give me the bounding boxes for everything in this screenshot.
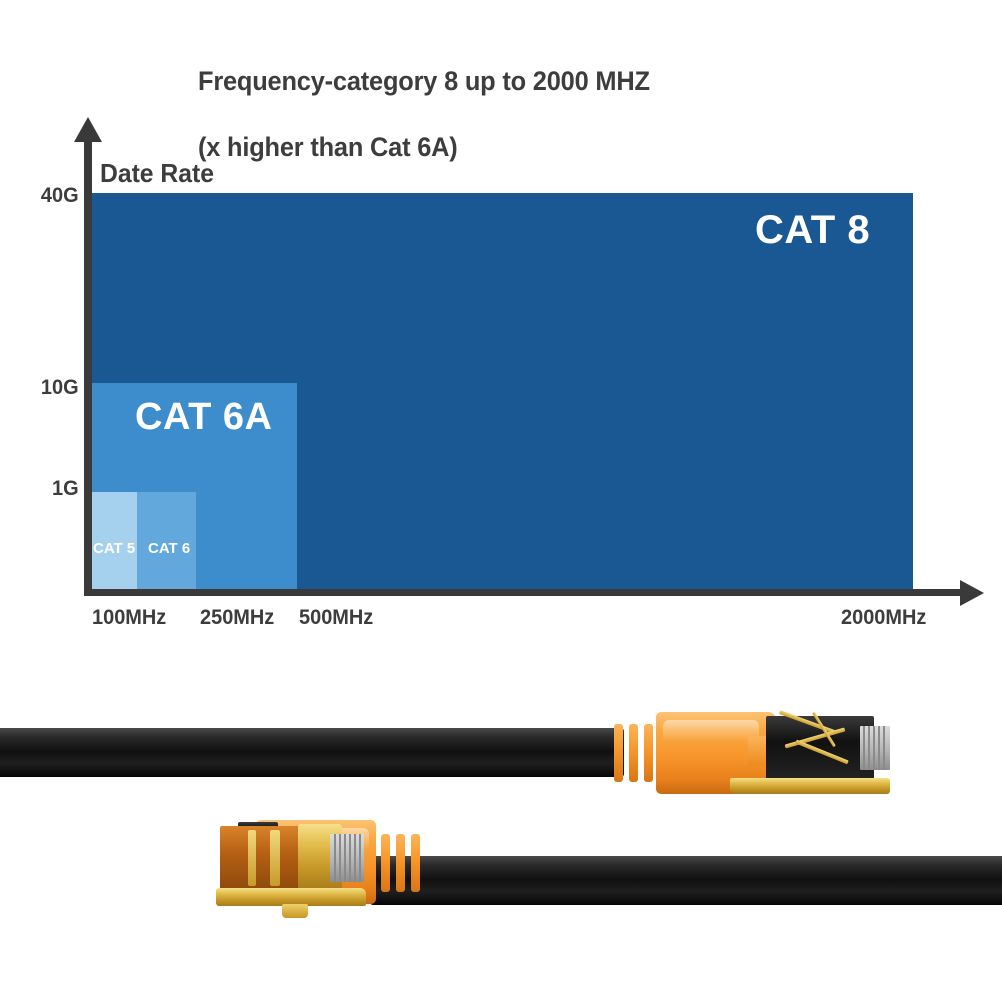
- rj45-connector-lower: Smolink: [128, 812, 428, 912]
- x-axis-line: [84, 589, 964, 596]
- bar-label-cat-5: CAT 5: [93, 540, 135, 557]
- x-tick-label-100mhz: 100MHz: [92, 606, 166, 630]
- y-tick-label-10g: 10G: [25, 376, 78, 400]
- cable-jacket-upper: [0, 728, 624, 777]
- y-axis-line: [84, 138, 92, 596]
- y-axis-title: Date Rate: [100, 158, 214, 189]
- y-tick-label-40g: 40G: [25, 184, 78, 208]
- cable-jacket-lower: [370, 856, 1002, 905]
- bar-label-cat-6a: CAT 6A: [135, 396, 272, 439]
- latch-tab-lower: [282, 904, 308, 918]
- y-axis-arrow-icon: [74, 117, 102, 142]
- frequency-data-rate-chart: CAT 8 CAT 6A CAT 6 CAT 5 Date Rate 40G 1…: [0, 0, 1002, 660]
- y-tick-label-1g: 1G: [25, 477, 78, 501]
- rj45-connector-upper: [608, 706, 898, 801]
- x-tick-label-2000mhz: 2000MHz: [841, 606, 926, 630]
- bar-label-cat-8: CAT 8: [755, 208, 870, 253]
- x-tick-label-500mhz: 500MHz: [299, 606, 373, 630]
- shield-plate-upper: [730, 778, 890, 794]
- product-photo-ethernet-cables: Smolink: [0, 660, 1002, 1002]
- rj45-contacts-lower: [330, 834, 364, 882]
- x-tick-label-250mhz: 250MHz: [200, 606, 274, 630]
- bar-label-cat-6: CAT 6: [148, 540, 190, 557]
- x-axis-arrow-icon: [960, 580, 984, 606]
- rj45-contacts-upper: [860, 726, 890, 770]
